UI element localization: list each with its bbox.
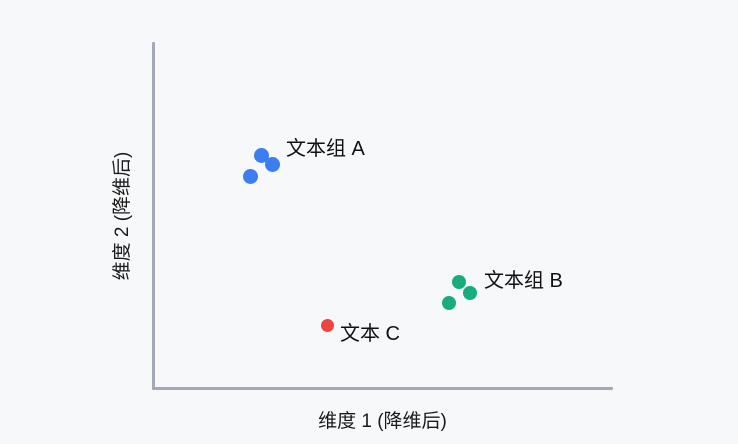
data-point-group-b-3 — [442, 296, 456, 310]
data-point-group-a-2 — [265, 157, 280, 172]
cluster-label-text-c: 文本 C — [340, 317, 400, 346]
x-axis-title: 维度 1 (降维后) — [152, 406, 613, 433]
y-axis-title: 维度 2 (降维后) — [110, 42, 136, 390]
x-axis-line — [152, 387, 613, 390]
data-point-group-a-3 — [243, 169, 258, 184]
scatter-plot: 文本组 A 文本组 B 文本 C 维度 1 (降维后) 维度 2 (降维后) — [0, 0, 738, 444]
data-point-group-b-2 — [463, 286, 477, 300]
data-point-group-b-1 — [452, 275, 466, 289]
y-axis-line — [152, 42, 155, 390]
data-point-text-c — [321, 319, 334, 332]
cluster-label-group-a: 文本组 A — [286, 132, 365, 161]
cluster-label-group-b: 文本组 B — [484, 264, 563, 293]
